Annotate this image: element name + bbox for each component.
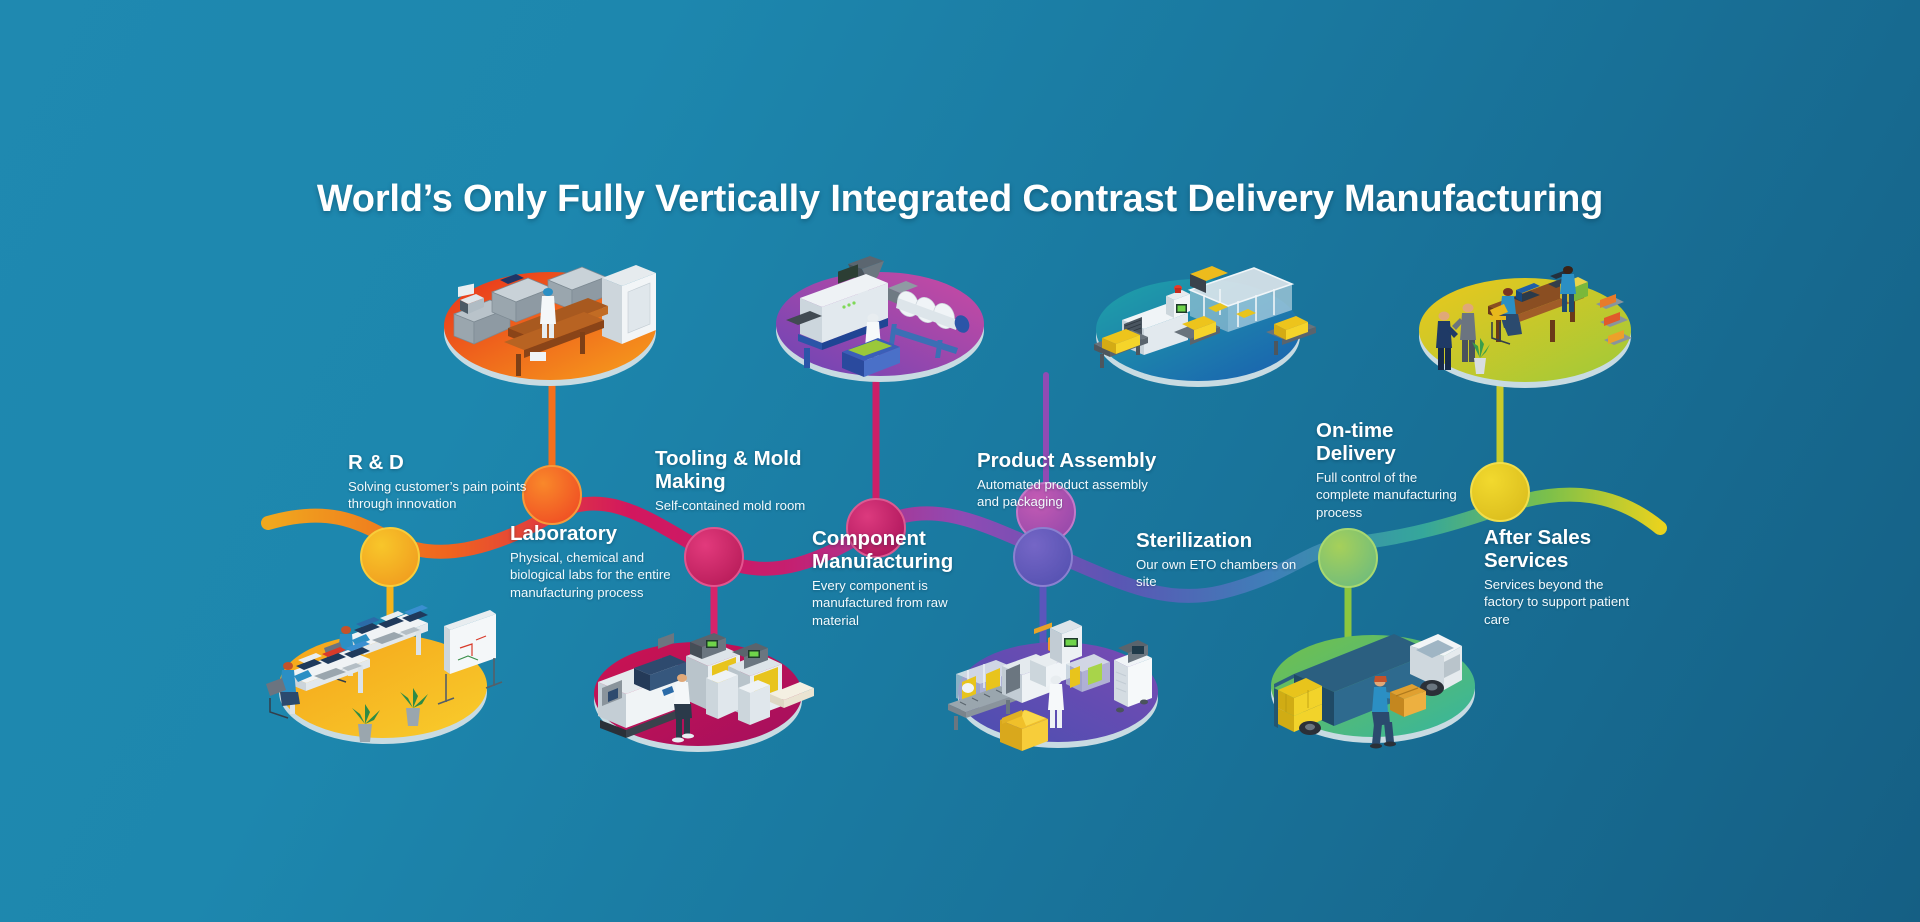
- label-aftersales-title: After Sales Services: [1484, 527, 1634, 573]
- label-delivery-description: Full control of the complete manufacturi…: [1316, 469, 1466, 521]
- label-delivery: On-time Delivery Full control of the com…: [1316, 420, 1466, 521]
- node-layer: [0, 0, 1920, 922]
- node-rd[interactable]: [361, 528, 419, 586]
- label-sterilization: Sterilization Our own ETO chambers on si…: [1136, 530, 1306, 591]
- node-delivery[interactable]: [1319, 529, 1377, 587]
- label-component-description: Every component is manufactured from raw…: [812, 577, 972, 629]
- node-sterilization-real[interactable]: [1014, 528, 1072, 586]
- node-laboratory[interactable]: [523, 466, 581, 524]
- node-aftersales[interactable]: [1471, 463, 1529, 521]
- node-tooling[interactable]: [685, 528, 743, 586]
- label-rd-description: Solving customer’s pain points through i…: [348, 478, 528, 513]
- label-laboratory-description: Physical, chemical and biological labs f…: [510, 549, 680, 601]
- label-component: Component Manufacturing Every component …: [812, 528, 972, 629]
- label-delivery-title: On-time Delivery: [1316, 420, 1466, 466]
- label-assembly-description: Automated product assembly and packaging: [977, 476, 1157, 511]
- label-sterilization-title: Sterilization: [1136, 530, 1306, 553]
- label-rd-title: R & D: [348, 452, 528, 475]
- label-sterilization-description: Our own ETO chambers on site: [1136, 556, 1306, 591]
- label-rd: R & D Solving customer’s pain points thr…: [348, 452, 528, 513]
- label-assembly-title: Product Assembly: [977, 450, 1157, 473]
- label-tooling: Tooling & Mold Making Self-contained mol…: [655, 448, 835, 514]
- label-aftersales-description: Services beyond the factory to support p…: [1484, 576, 1634, 628]
- label-tooling-title: Tooling & Mold Making: [655, 448, 835, 494]
- label-assembly: Product Assembly Automated product assem…: [977, 450, 1157, 511]
- label-tooling-description: Self-contained mold room: [655, 497, 835, 514]
- label-laboratory-title: Laboratory: [510, 523, 680, 546]
- label-component-title: Component Manufacturing: [812, 528, 972, 574]
- label-aftersales: After Sales Services Services beyond the…: [1484, 527, 1634, 628]
- infographic-canvas: World’s Only Fully Vertically Integrated…: [0, 0, 1920, 922]
- label-laboratory: Laboratory Physical, chemical and biolog…: [510, 523, 680, 601]
